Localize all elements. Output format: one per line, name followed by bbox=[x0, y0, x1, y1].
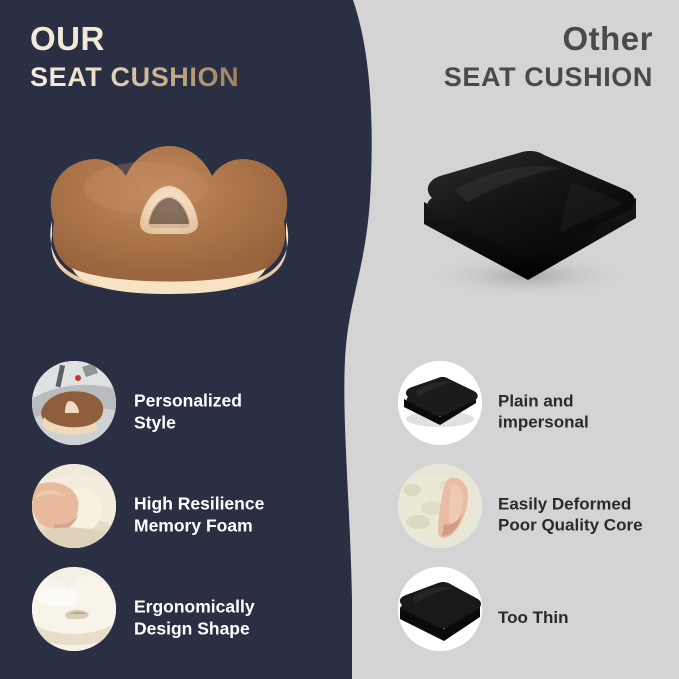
comparison-infographic: OUR SEAT CUSHION Other SEAT CUSHION bbox=[0, 0, 679, 679]
deformed-foam-hand-thumbnail bbox=[398, 464, 482, 548]
other-feature-list: Plain and impersonal Easily Deformed Poo… bbox=[398, 360, 668, 669]
other-feature-label-3: Too Thin bbox=[498, 607, 569, 629]
black-cushion-thumbnail bbox=[398, 361, 482, 445]
other-title-line1: Other bbox=[444, 22, 653, 57]
cushion-on-car-seat-thumbnail bbox=[32, 361, 116, 445]
our-feature-list: Personalized Style High Resilience Memor… bbox=[30, 360, 330, 669]
cream-cushion-shape-thumbnail bbox=[32, 567, 116, 651]
other-feature-item-1: Plain and impersonal bbox=[398, 360, 668, 463]
our-cushion-hero-image bbox=[34, 126, 304, 311]
other-feature-label-2: Easily Deformed Poor Quality Core bbox=[498, 493, 643, 537]
our-feature-item-2: High Resilience Memory Foam bbox=[30, 463, 330, 566]
other-feature-item-3: Too Thin bbox=[398, 566, 668, 669]
other-feature-item-2: Easily Deformed Poor Quality Core bbox=[398, 463, 668, 566]
our-feature-item-1: Personalized Style bbox=[30, 360, 330, 463]
our-feature-label-1: Personalized Style bbox=[134, 389, 242, 434]
thin-black-cushion-thumbnail bbox=[398, 567, 482, 651]
other-cushion-hero-image bbox=[410, 140, 650, 305]
our-feature-label-2: High Resilience Memory Foam bbox=[134, 492, 264, 537]
other-feature-label-1: Plain and impersonal bbox=[498, 390, 589, 434]
other-header: Other SEAT CUSHION bbox=[444, 22, 653, 94]
hand-pressing-foam-thumbnail bbox=[32, 464, 116, 548]
our-title-line2: SEAT CUSHION bbox=[30, 62, 239, 94]
our-title-line1: OUR bbox=[30, 22, 239, 57]
other-title-line2: SEAT CUSHION bbox=[444, 62, 653, 94]
our-feature-label-3: Ergonomically Design Shape bbox=[134, 595, 255, 640]
our-feature-item-3: Ergonomically Design Shape bbox=[30, 566, 330, 669]
our-header: OUR SEAT CUSHION bbox=[30, 22, 239, 94]
